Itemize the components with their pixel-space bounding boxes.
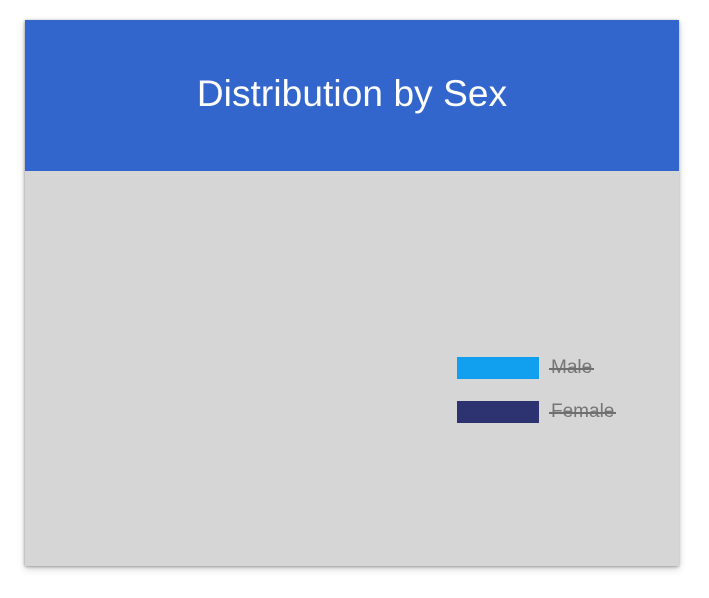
chart-legend: Male Female [457, 357, 614, 423]
legend-label-female[interactable]: Female [551, 401, 614, 423]
legend-swatch-female[interactable] [457, 401, 539, 423]
chart-header: Distribution by Sex [25, 20, 679, 171]
legend-item-male[interactable]: Male [457, 357, 614, 379]
chart-plot-area[interactable]: Male Female [25, 171, 679, 566]
legend-label-male[interactable]: Male [551, 357, 592, 379]
legend-swatch-male[interactable] [457, 357, 539, 379]
chart-title: Distribution by Sex [197, 75, 507, 116]
chart-card: Distribution by Sex Male Female [25, 20, 679, 566]
legend-item-female[interactable]: Female [457, 401, 614, 423]
